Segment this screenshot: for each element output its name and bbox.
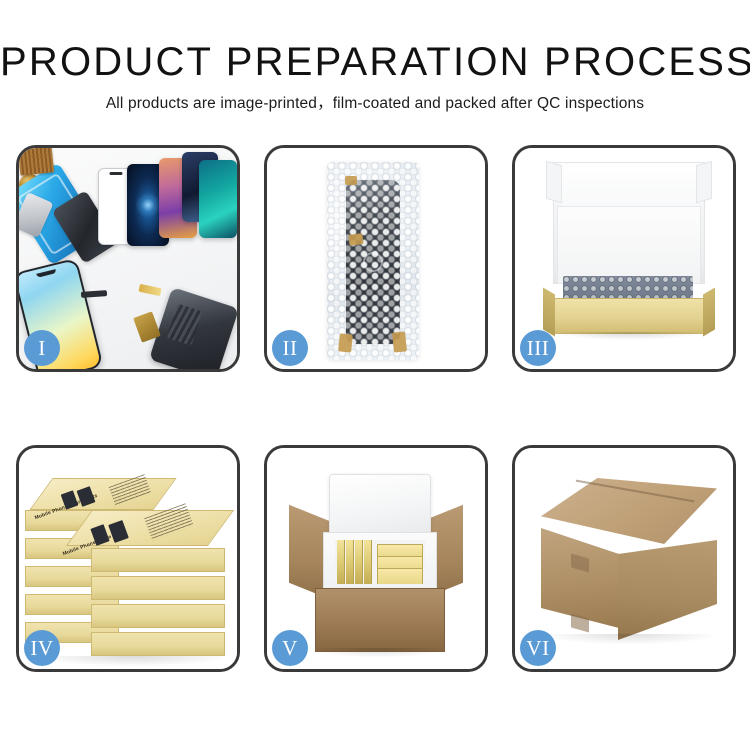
step-badge-5: V bbox=[272, 630, 308, 666]
process-step-6[interactable]: VI bbox=[512, 445, 736, 672]
stacked-box-edge bbox=[91, 604, 225, 628]
page-header: PRODUCT PREPARATION PROCESS All products… bbox=[0, 0, 750, 112]
process-step-4[interactable]: Mobile Phone Spare Parts Mobile Phone Sp… bbox=[16, 445, 240, 672]
component-strip-icon bbox=[81, 290, 107, 298]
process-step-3[interactable]: III bbox=[512, 145, 736, 372]
page-title: PRODUCT PREPARATION PROCESS bbox=[0, 0, 750, 82]
box-shadow bbox=[313, 648, 445, 657]
flex-cable-icon bbox=[138, 284, 161, 296]
box-lid-top bbox=[29, 478, 176, 510]
process-step-2[interactable]: II bbox=[264, 145, 488, 372]
carton-right-face-icon bbox=[618, 540, 717, 640]
step-badge-3: III bbox=[520, 330, 556, 366]
back-housing-icon bbox=[149, 287, 237, 369]
box-shadow bbox=[555, 332, 701, 340]
stacked-box-edge bbox=[91, 576, 225, 600]
step-badge-4: IV bbox=[24, 630, 60, 666]
process-step-5[interactable]: V bbox=[264, 445, 488, 672]
step-badge-6: VI bbox=[520, 630, 556, 666]
teal-phone-icon bbox=[199, 160, 237, 238]
foam-sheet-icon bbox=[557, 206, 701, 284]
tape-mark-icon bbox=[338, 333, 353, 352]
packed-box-icon bbox=[346, 540, 354, 584]
circuit-board-icon bbox=[19, 148, 54, 176]
tape-mark-icon bbox=[345, 176, 357, 185]
page-subtitle: All products are image-printed，film-coat… bbox=[0, 82, 750, 112]
step-badge-1: I bbox=[24, 330, 60, 366]
kraft-box-base-icon bbox=[551, 298, 707, 334]
stacked-box-edge bbox=[91, 632, 225, 656]
carton-left-face-icon bbox=[541, 528, 619, 628]
step-badge-2: II bbox=[272, 330, 308, 366]
tape-mark-icon bbox=[348, 233, 363, 246]
carton-top-face-icon bbox=[541, 478, 717, 544]
stacked-box-edge bbox=[91, 548, 225, 572]
packed-boxes-group bbox=[335, 540, 425, 584]
bubble-wrap-bag-icon bbox=[327, 162, 419, 360]
tape-mark-icon bbox=[392, 331, 407, 352]
process-step-1[interactable]: I bbox=[16, 145, 240, 372]
process-step-grid: I II III bbox=[16, 145, 736, 672]
packed-box-icon bbox=[355, 540, 363, 584]
packed-box-icon bbox=[364, 540, 372, 584]
foam-cooler-lid-icon bbox=[329, 474, 431, 540]
packed-box-icon bbox=[377, 568, 423, 584]
box-shadow bbox=[545, 634, 713, 644]
packed-box-icon bbox=[337, 540, 345, 584]
box-shadow bbox=[39, 656, 225, 666]
bubble-texture-overlay-icon bbox=[327, 162, 419, 360]
carton-body-icon bbox=[315, 588, 445, 652]
